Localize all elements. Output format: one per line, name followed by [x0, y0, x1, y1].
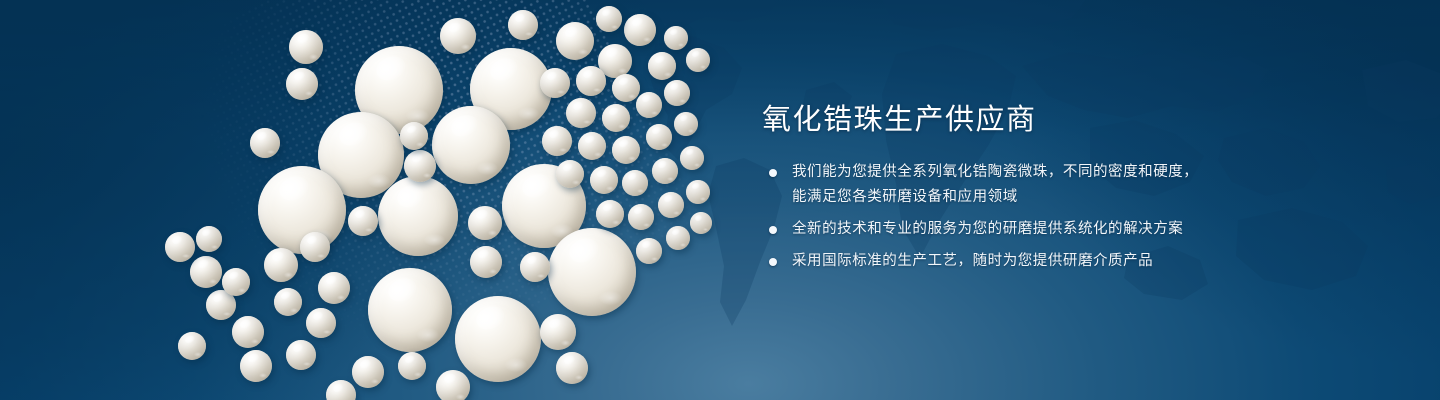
bullet-dot-icon: [769, 169, 777, 177]
bullet-line: 采用国际标准的生产工艺，随时为您提供研磨介质产品: [792, 249, 1232, 274]
list-item: 全新的技术和专业的服务为您的研磨提供系统化的解决方案: [762, 217, 1232, 242]
feature-bullet-list: 我们能为您提供全系列氧化锆陶瓷微珠，不同的密度和硬度， 能满足您各类研磨设备和应…: [762, 160, 1232, 274]
bullet-line: 我们能为您提供全系列氧化锆陶瓷微珠，不同的密度和硬度，: [792, 160, 1232, 185]
list-item: 我们能为您提供全系列氧化锆陶瓷微珠，不同的密度和硬度， 能满足您各类研磨设备和应…: [762, 160, 1232, 210]
page-title: 氧化锆珠生产供应商: [762, 100, 1232, 138]
bullet-dot-icon: [769, 258, 777, 266]
hero-banner: 氧化锆珠生产供应商 我们能为您提供全系列氧化锆陶瓷微珠，不同的密度和硬度， 能满…: [0, 0, 1440, 400]
bullet-line: 全新的技术和专业的服务为您的研磨提供系统化的解决方案: [792, 217, 1232, 242]
list-item: 采用国际标准的生产工艺，随时为您提供研磨介质产品: [762, 249, 1232, 274]
bullet-dot-icon: [769, 226, 777, 234]
bullet-line: 能满足您各类研磨设备和应用领域: [792, 185, 1232, 210]
banner-copy-block: 氧化锆珠生产供应商 我们能为您提供全系列氧化锆陶瓷微珠，不同的密度和硬度， 能满…: [762, 100, 1232, 274]
